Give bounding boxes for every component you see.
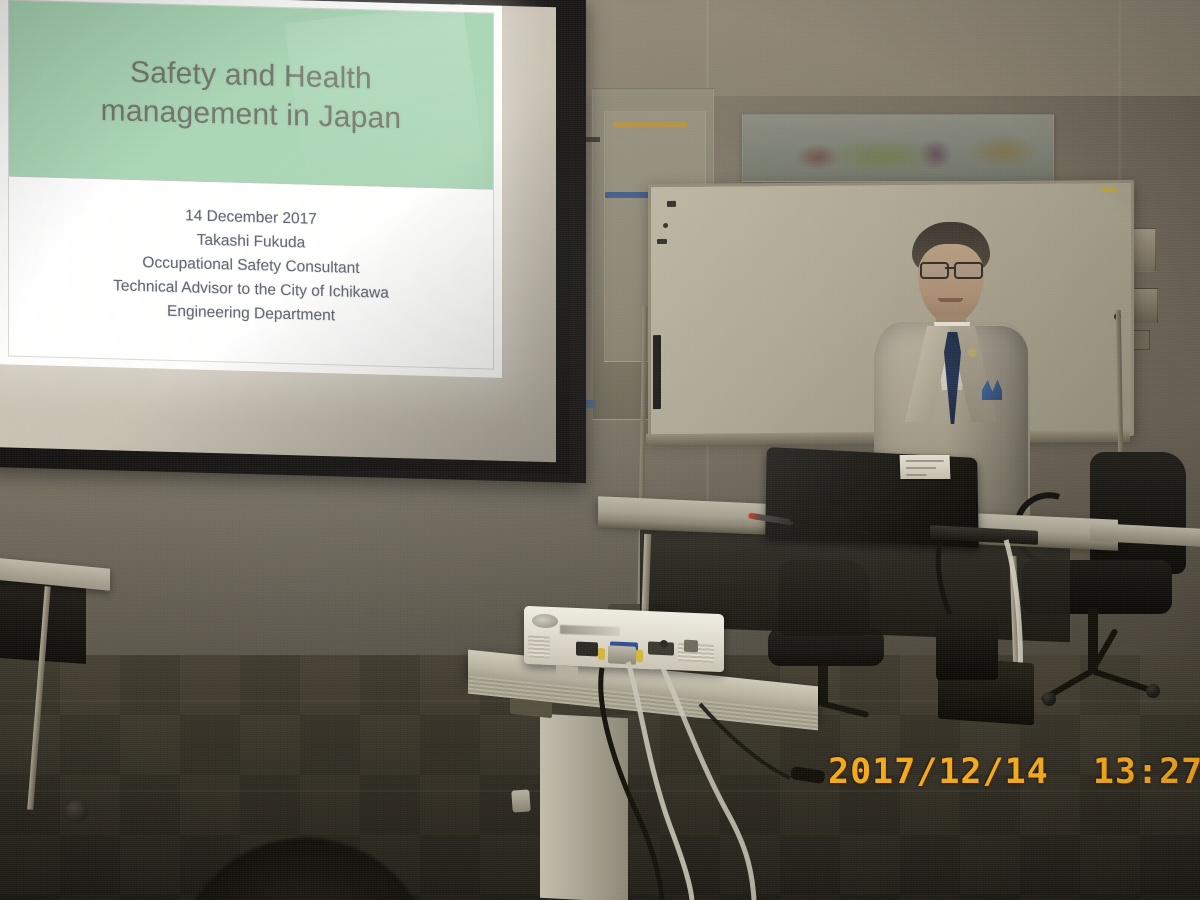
slide-content: Safety and Health management in Japan 14… [8, 0, 494, 370]
projector-cart-column [540, 714, 628, 900]
photograph: Safety and Health management in Japan 14… [0, 0, 1200, 900]
slide-subtitle-line: Engineering Department [167, 300, 335, 327]
slide-title-band: Safety and Health management in Japan [9, 1, 493, 190]
camera-timestamp: 2017/12/14 13:27 [828, 752, 1200, 792]
side-table-caster [66, 800, 88, 822]
slide-title: Safety and Health management in Japan [83, 51, 420, 138]
projector-vent [528, 635, 550, 658]
name-card-line [906, 467, 936, 469]
projector-port-lan[interactable] [684, 640, 698, 653]
projector-cart-knob[interactable] [511, 789, 530, 812]
world-map-poster [742, 114, 1054, 182]
plug-thumbscrew [636, 650, 643, 662]
name-card [900, 455, 951, 479]
slide-subtitle-line: Occupational Safety Consultant [142, 252, 359, 280]
office-chair-caster [1146, 684, 1160, 698]
glasses-bridge [945, 267, 954, 269]
slide-subtitle-line: Takashi Fukuda [197, 229, 306, 254]
whiteboard-eraser[interactable] [653, 335, 661, 409]
office-chair-caster [1042, 692, 1056, 706]
projection-screen: Safety and Health management in Japan 14… [0, 0, 586, 483]
slide-subtitle-line: 14 December 2017 [185, 205, 317, 231]
vga-connector[interactable] [608, 645, 636, 664]
whiteboard-magnet [1101, 187, 1117, 192]
projector-port-audio[interactable] [660, 640, 668, 648]
orange-strip [613, 122, 687, 127]
plug-thumbscrew [598, 648, 605, 660]
presenter-mouth [938, 298, 963, 302]
slide-subtitle-line: Technical Advisor to the City of Ichikaw… [113, 275, 389, 304]
whiteboard-magnet [663, 223, 668, 228]
name-card-line [906, 460, 944, 462]
projector-foot [556, 666, 578, 679]
glasses-lens-left [920, 262, 949, 279]
office-chair-backrest[interactable] [1090, 452, 1186, 574]
lapel-badge [968, 348, 977, 357]
projected-slide: Safety and Health management in Japan 14… [0, 0, 502, 378]
glasses-lens-right [954, 262, 983, 279]
presenter-face [918, 244, 984, 322]
office-chair-post [818, 660, 828, 704]
name-card-line [906, 474, 926, 476]
under-desk-bag [936, 614, 998, 680]
projector-port-hdmi[interactable] [576, 642, 598, 657]
whiteboard-magnet [657, 239, 667, 244]
screen-surface: Safety and Health management in Japan 14… [0, 0, 556, 462]
slide-title-line-2: management in Japan [101, 90, 402, 137]
blue-strip [605, 192, 653, 198]
whiteboard-magnet [667, 201, 676, 207]
slide-subtitle-block: 14 December 2017 Takashi Fukuda Occupati… [9, 177, 493, 369]
